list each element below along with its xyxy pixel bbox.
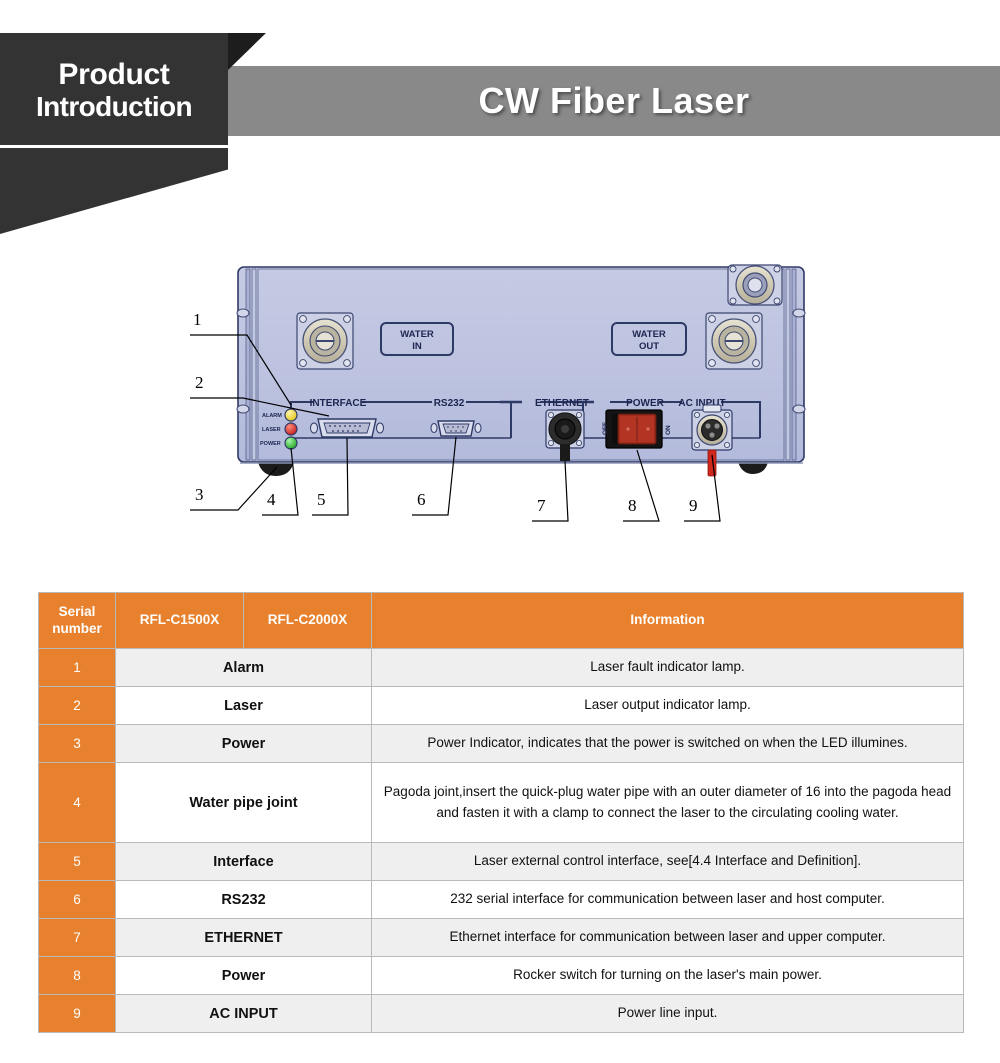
cell-component-name: ETHERNET xyxy=(116,919,372,957)
callout-8: 8 xyxy=(628,496,637,515)
header-serial-number: Serial number xyxy=(39,593,116,649)
led-label-laser: LASER xyxy=(262,427,281,433)
ribbon-fold-decoration xyxy=(228,33,266,70)
output-connector xyxy=(728,265,782,305)
cell-component-name: Water pipe joint xyxy=(116,763,372,843)
label-power: POWER xyxy=(626,398,665,409)
table-row: 5InterfaceLaser external control interfa… xyxy=(39,843,964,881)
table-header-row: Serial number RFL-C1500X RFL-C2000X Info… xyxy=(39,593,964,649)
led-label-power: POWER xyxy=(260,441,281,447)
callout-3: 3 xyxy=(195,485,204,504)
page-header: CW Fiber Laser Product Introduction xyxy=(0,0,1000,250)
water-in-line2: IN xyxy=(412,341,422,352)
water-out-line2: OUT xyxy=(639,341,659,352)
led-alarm xyxy=(285,409,297,421)
water-pipe-joint-out xyxy=(706,313,762,369)
cell-information: Laser fault indicator lamp. xyxy=(372,649,964,687)
table-row: 3PowerPower Indicator, indicates that th… xyxy=(39,725,964,763)
header-serial-line1: Serial xyxy=(39,604,115,621)
cell-information: Laser output indicator lamp. xyxy=(372,687,964,725)
ribbon-tail-decoration xyxy=(0,148,228,234)
device-rear-panel-diagram: WATER IN WATER OUT xyxy=(0,245,1000,565)
cell-serial-number: 3 xyxy=(39,725,116,763)
label-interface: INTERFACE xyxy=(310,398,367,409)
label-ethernet: ETHERNET xyxy=(535,398,589,409)
callout-4: 4 xyxy=(267,490,276,509)
table-row: 9AC INPUTPower line input. xyxy=(39,995,964,1033)
water-pipe-joint-in xyxy=(297,313,353,369)
switch-label-on: ON xyxy=(665,425,672,435)
cell-information: Rocker switch for turning on the laser's… xyxy=(372,957,964,995)
interface-db25-connector xyxy=(311,419,384,437)
table-row: 6RS232232 serial interface for communica… xyxy=(39,881,964,919)
ribbon-underline xyxy=(0,145,228,148)
cell-serial-number: 2 xyxy=(39,687,116,725)
cell-serial-number: 5 xyxy=(39,843,116,881)
header-model-rfl-c2000x: RFL-C2000X xyxy=(244,593,372,649)
cell-information: Laser external control interface, see[4.… xyxy=(372,843,964,881)
cell-information: Ethernet interface for communication bet… xyxy=(372,919,964,957)
led-power xyxy=(285,437,297,449)
ribbon-label: Product Introduction xyxy=(0,33,228,148)
led-indicators: ALARM LASER POWER xyxy=(260,409,297,449)
cell-serial-number: 4 xyxy=(39,763,116,843)
cell-information: 232 serial interface for communication b… xyxy=(372,881,964,919)
led-laser xyxy=(285,423,297,435)
cell-component-name: AC INPUT xyxy=(116,995,372,1033)
header-information: Information xyxy=(372,593,964,649)
cell-component-name: RS232 xyxy=(116,881,372,919)
spec-table: Serial number RFL-C1500X RFL-C2000X Info… xyxy=(38,592,964,1033)
table-row: 4Water pipe jointPagoda joint,insert the… xyxy=(39,763,964,843)
spec-table-container: Serial number RFL-C1500X RFL-C2000X Info… xyxy=(38,592,964,1033)
cell-serial-number: 1 xyxy=(39,649,116,687)
callout-1: 1 xyxy=(193,310,202,329)
switch-label-off: OFF xyxy=(602,422,609,435)
led-label-alarm: ALARM xyxy=(262,413,282,419)
spec-table-body: 1AlarmLaser fault indicator lamp.2LaserL… xyxy=(39,649,964,1033)
cell-component-name: Power xyxy=(116,725,372,763)
label-rs232: RS232 xyxy=(434,398,465,409)
cell-serial-number: 9 xyxy=(39,995,116,1033)
header-serial-line2: number xyxy=(39,621,115,638)
callout-7: 7 xyxy=(537,496,546,515)
callout-2: 2 xyxy=(195,373,204,392)
cell-component-name: Alarm xyxy=(116,649,372,687)
cell-component-name: Laser xyxy=(116,687,372,725)
ribbon-label-line2: Introduction xyxy=(36,92,192,122)
spec-table-head: Serial number RFL-C1500X RFL-C2000X Info… xyxy=(39,593,964,649)
table-row: 7ETHERNETEthernet interface for communic… xyxy=(39,919,964,957)
ac-input-connector xyxy=(692,405,732,476)
page-root: CW Fiber Laser Product Introduction xyxy=(0,0,1000,1063)
cell-component-name: Power xyxy=(116,957,372,995)
header-model-rfl-c1500x: RFL-C1500X xyxy=(116,593,244,649)
table-row: 8PowerRocker switch for turning on the l… xyxy=(39,957,964,995)
callout-6: 6 xyxy=(417,490,426,509)
cell-information: Pagoda joint,insert the quick-plug water… xyxy=(372,763,964,843)
table-row: 2LaserLaser output indicator lamp. xyxy=(39,687,964,725)
callout-5: 5 xyxy=(317,490,326,509)
water-in-line1: WATER xyxy=(400,329,434,340)
cell-serial-number: 7 xyxy=(39,919,116,957)
cell-serial-number: 6 xyxy=(39,881,116,919)
ribbon-label-line1: Product xyxy=(58,59,169,91)
power-rocker-switch: OFF ON xyxy=(602,410,672,448)
water-out-line1: WATER xyxy=(632,329,666,340)
cell-component-name: Interface xyxy=(116,843,372,881)
cell-information: Power Indicator, indicates that the powe… xyxy=(372,725,964,763)
page-title: CW Fiber Laser xyxy=(228,66,1000,136)
cell-information: Power line input. xyxy=(372,995,964,1033)
table-row: 1AlarmLaser fault indicator lamp. xyxy=(39,649,964,687)
cell-serial-number: 8 xyxy=(39,957,116,995)
callout-9: 9 xyxy=(689,496,698,515)
